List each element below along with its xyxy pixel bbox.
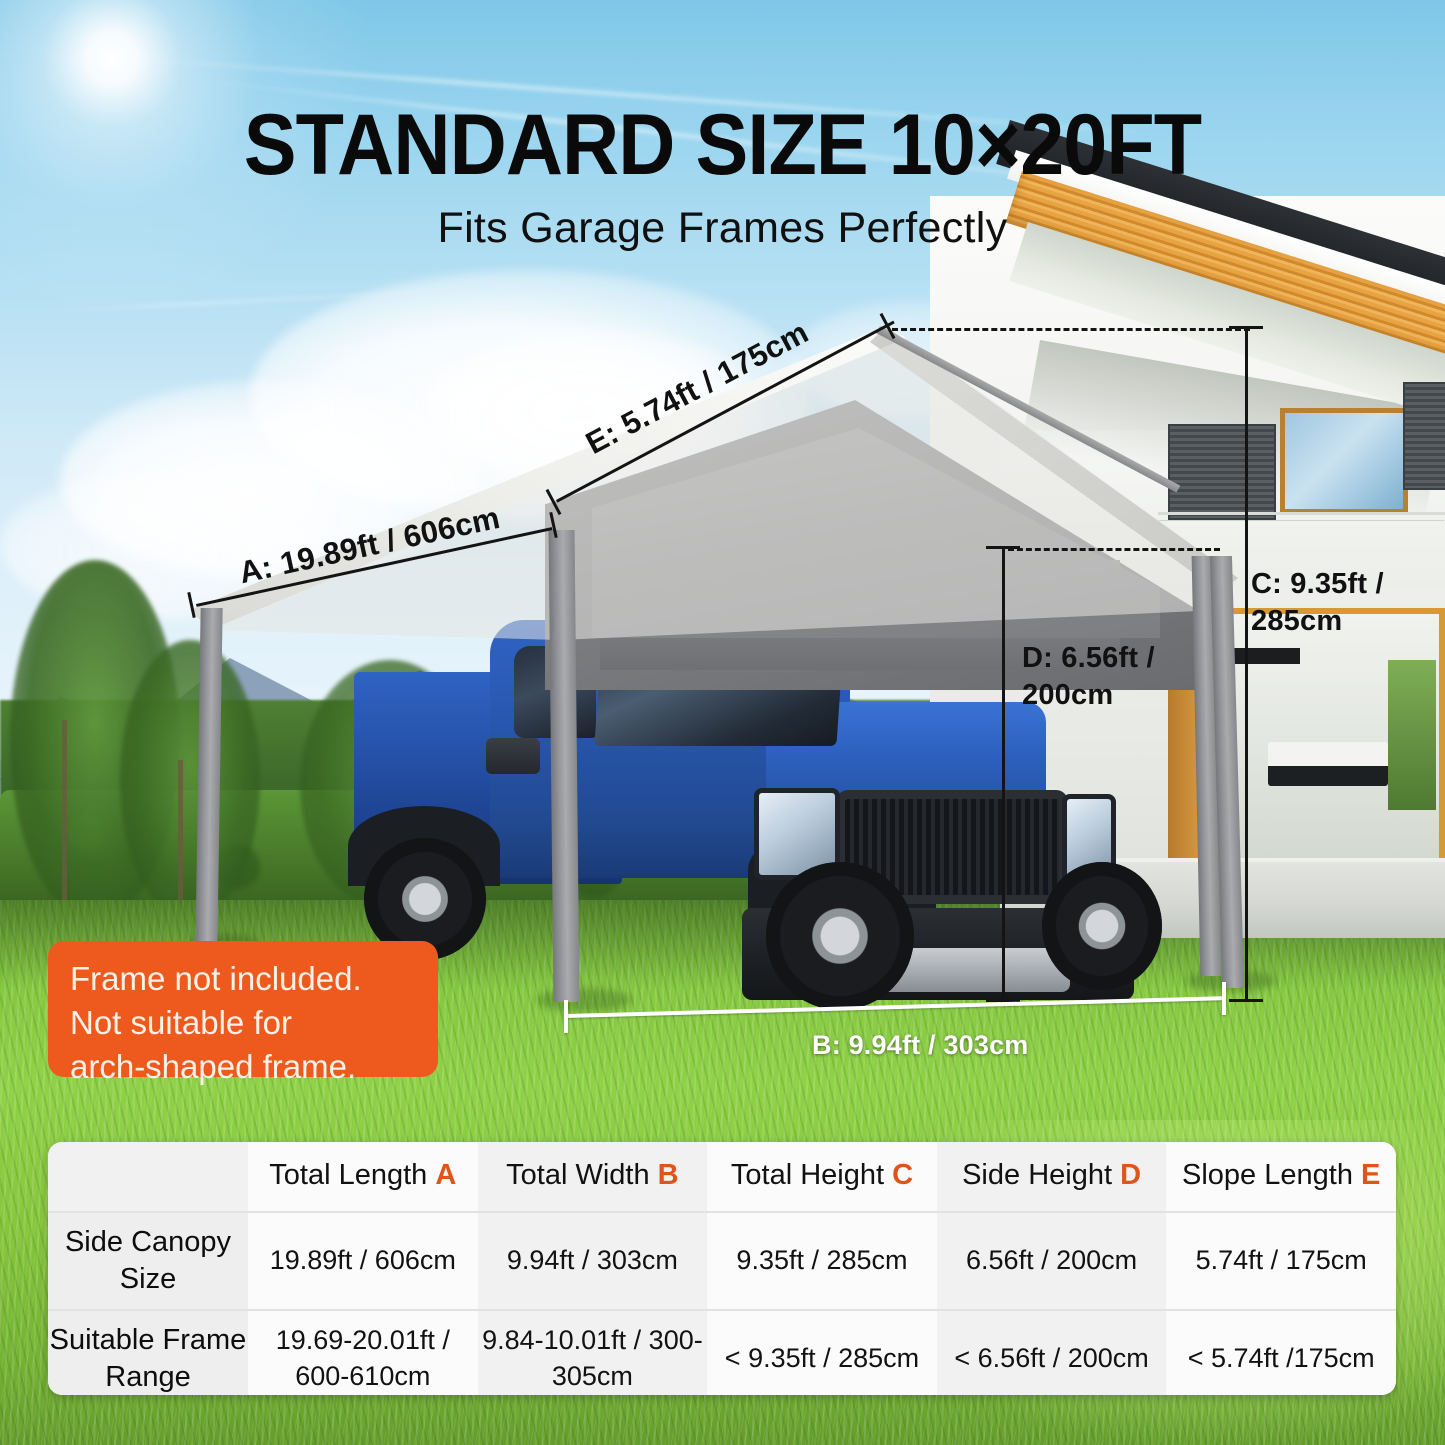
header-text: Total Width [506,1159,658,1191]
table-header-total-width: Total Width B [478,1142,708,1212]
tree [120,640,260,920]
interior-sofa [1268,742,1388,786]
table-header-side-height: Side Height D [937,1142,1167,1212]
leader-line-top [892,328,1250,331]
cell-frame-width: 9.84-10.01ft / 300-305cm [478,1310,708,1395]
header-text: Slope Length [1182,1159,1361,1191]
product-infographic: A: 19.89ft / 606cm E: 5.74ft / 175cm C: … [0,0,1445,1445]
truck-wheel [1042,862,1162,990]
dimension-label-b: B: 9.94ft / 303cm [812,1030,1029,1061]
dimension-line-d [1002,546,1005,1002]
header-text: Total Height [731,1159,892,1191]
dimension-label-d-line1: D: 6.56ft / [1022,640,1155,677]
header-letter: B [658,1159,679,1191]
cell-frame-length: 19.69-20.01ft / 600-610cm [248,1310,478,1395]
dimension-cap-c-top [1229,326,1263,329]
disclaimer-badge: Frame not included. Not suitable for arc… [48,941,438,1077]
interior-garden-view [1388,660,1436,810]
row-label-side-canopy-size: Side Canopy Size [48,1212,248,1310]
header-letter: C [892,1159,913,1191]
row-label-suitable-frame-range: Suitable Frame Range [48,1310,248,1395]
table-header-blank [48,1142,248,1212]
dimension-label-d-line2: 200cm [1022,677,1155,714]
dimension-cap-d-top [986,546,1020,549]
table-row: Side Canopy Size 19.89ft / 606cm 9.94ft … [48,1212,1396,1310]
tree-trunk [178,760,183,920]
disclaimer-line-1: Frame not included. [70,957,418,1001]
cell-frame-side-height: < 6.56ft / 200cm [937,1310,1167,1395]
specification-table: Total Length A Total Width B Total Heigh… [48,1142,1396,1395]
dimension-label-c: C: 9.35ft / 285cm [1251,566,1384,639]
dimension-cap-b-left [564,1000,568,1033]
leg-shadow [536,988,632,1012]
header-letter: D [1120,1159,1141,1191]
table-header-row: Total Length A Total Width B Total Heigh… [48,1142,1396,1212]
cell-canopy-width: 9.94ft / 303cm [478,1212,708,1310]
disclaimer-line-2: Not suitable for [70,1001,418,1045]
cell-canopy-length: 19.89ft / 606cm [248,1212,478,1310]
dimension-line-c [1245,326,1248,1002]
cell-frame-height: < 9.35ft / 285cm [707,1310,937,1395]
cell-canopy-side-height: 6.56ft / 200cm [937,1212,1167,1310]
cell-canopy-height: 9.35ft / 285cm [707,1212,937,1310]
table-header-slope-length: Slope Length E [1166,1142,1396,1212]
page-title: STANDARD SIZE 10×20FT [58,96,1387,195]
cell-frame-slope: < 5.74ft /175cm [1166,1310,1396,1395]
dimension-label-c-line1: C: 9.35ft / [1251,566,1384,603]
dimension-cap-b-right [1222,982,1226,1015]
header-text: Total Length [269,1159,435,1191]
dimension-label-c-line2: 285cm [1251,603,1384,640]
header-letter: E [1361,1159,1380,1191]
cell-canopy-slope: 5.74ft / 175cm [1166,1212,1396,1310]
dimension-label-d: D: 6.56ft / 200cm [1022,640,1155,713]
page-subtitle: Fits Garage Frames Perfectly [0,204,1445,253]
disclaimer-line-3: arch-shaped frame. [70,1045,418,1089]
table-header-total-length: Total Length A [248,1142,478,1212]
truck-wheel [766,862,914,1010]
table-header-total-height: Total Height C [707,1142,937,1212]
leader-line-mid [1008,548,1220,551]
tree-trunk [62,720,67,920]
table-row: Suitable Frame Range 19.69-20.01ft / 600… [48,1310,1396,1395]
canopy-leg-front-right [549,530,580,1002]
header-text: Side Height [962,1159,1120,1191]
header-letter: A [435,1159,456,1191]
dimension-cap-c-bottom [1229,999,1263,1002]
house-window-glass [1280,408,1408,514]
truck-side-mirror [486,738,540,774]
house-window-louvre [1403,382,1445,490]
